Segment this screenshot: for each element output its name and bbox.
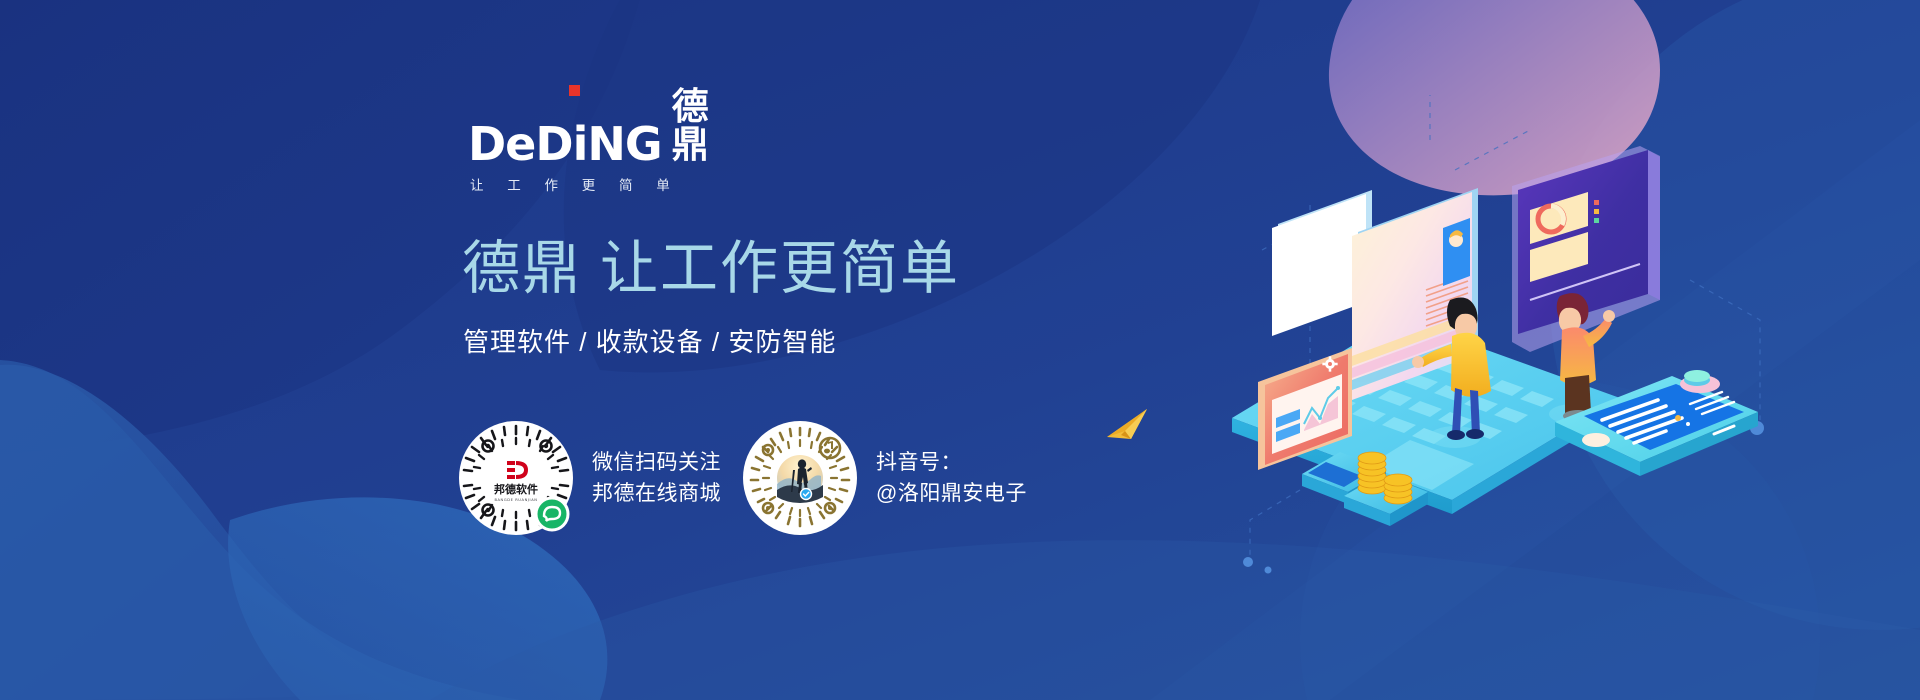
wechat-qr-line2: 邦德在线商城 (592, 478, 721, 509)
wechat-qr-line1: 微信扫码关注 (592, 447, 721, 478)
douyin-qr-code[interactable] (742, 420, 858, 536)
page-title: 德鼎让工作更简单 (462, 238, 960, 300)
headline-rest: 让工作更简单 (600, 236, 960, 301)
headline-brand: 德鼎 (462, 236, 582, 301)
wechat-mini-program-qr[interactable]: 邦德软件 BANGDE RUANJIAN (458, 420, 574, 536)
logo-wordmark: DeDiNG 德鼎 (468, 88, 728, 165)
douyin-qr-line1: 抖音号： (876, 447, 1027, 478)
douyin-qr-caption: 抖音号： @洛阳鼎安电子 (876, 447, 1027, 509)
logo-latin-text: DeDiNG (468, 123, 662, 165)
wechat-qr-group: 邦德软件 BANGDE RUANJIAN 微信扫码关注 邦德在线商城 (458, 420, 721, 536)
douyin-qr-line2: @洛阳鼎安电子 (876, 478, 1027, 509)
logo-tagline: 让 工 作 更 简 单 (468, 174, 728, 194)
brand-logo: DeDiNG 德鼎 让 工 作 更 简 单 (468, 88, 728, 194)
douyin-qr-group: 抖音号： @洛阳鼎安电子 (742, 420, 1027, 536)
logo-chinese-text: 德鼎 (672, 88, 728, 165)
logo-accent-square (569, 85, 580, 96)
purple-dashboard-panel (1512, 0, 1660, 352)
svg-text:BANGDE RUANJIAN: BANGDE RUANJIAN (494, 498, 537, 502)
isometric-illustration (0, 0, 1920, 700)
page-subtitle: 管理软件 / 收款设备 / 安防智能 (463, 325, 836, 359)
svg-text:邦德软件: 邦德软件 (494, 482, 538, 496)
paper-plane-icon (1105, 405, 1151, 447)
wechat-qr-caption: 微信扫码关注 邦德在线商城 (592, 447, 721, 509)
promo-banner: DeDiNG 德鼎 让 工 作 更 简 单 德鼎让工作更简单 管理软件 / 收款… (0, 0, 1920, 700)
